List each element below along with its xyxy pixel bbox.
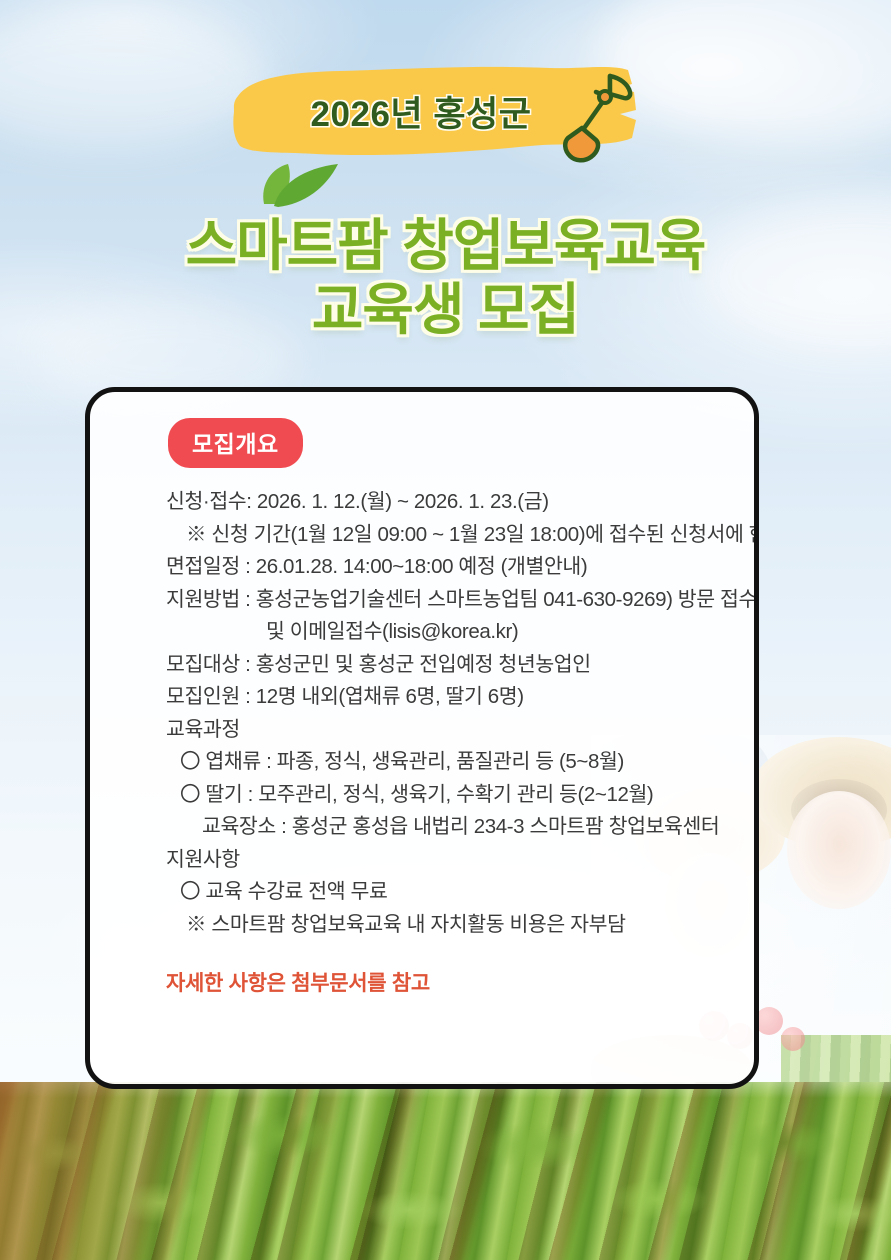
detail-line: 면접일정 : 26.01.28. 14:00~18:00 예정 (개별안내) — [118, 551, 726, 584]
info-card: 모집개요 신청·접수: 2026. 1. 12.(월) ~ 2026. 1. 2… — [85, 387, 759, 1089]
page-title: 스마트팜 창업보육교육 교육생 모집 — [0, 214, 891, 342]
detail-line: 모집대상 : 홍성군민 및 홍성군 전입예정 청년농업인 — [118, 649, 726, 682]
title-line-1: 스마트팜 창업보육교육 — [186, 214, 706, 277]
detail-line: ※ 스마트팜 창업보육교육 내 자치활동 비용은 자부담 — [118, 909, 726, 942]
detail-line: 지원사항 — [118, 844, 726, 877]
detail-line: 〇 교육 수강료 전액 무료 — [118, 876, 726, 909]
detail-line: ※ 신청 기간(1월 12일 09:00 ~ 1월 23일 18:00)에 접수… — [118, 519, 726, 552]
poster-root: 2026년 홍성군 스마트팜 창업보육교육 교육생 모집 모집개요 신청·접수:… — [0, 0, 891, 1260]
detail-line: 및 이메일접수(lisis@korea.kr) — [118, 616, 726, 649]
title-line-2: 교육생 모집 — [0, 278, 891, 342]
header-banner: 2026년 홍성군 — [230, 62, 660, 160]
leaf-icon — [248, 152, 350, 212]
detail-line: 신청·접수: 2026. 1. 12.(월) ~ 2026. 1. 23.(금) — [118, 486, 726, 519]
footer-note: 자세한 사항은 첨부문서를 참고 — [118, 967, 726, 997]
details-list: 신청·접수: 2026. 1. 12.(월) ~ 2026. 1. 23.(금)… — [118, 486, 726, 941]
detail-line: 모집인원 : 12명 내외(엽채류 6명, 딸기 6명) — [118, 681, 726, 714]
detail-line: 교육장소 : 홍성군 홍성읍 내법리 234-3 스마트팜 창업보육센터 — [118, 811, 726, 844]
detail-line: 〇 딸기 : 모주관리, 정식, 생육기, 수확기 관리 등(2~12월) — [118, 779, 726, 812]
shovel-icon — [548, 66, 644, 170]
detail-line: 〇 엽채류 : 파종, 정식, 생육관리, 품질관리 등 (5~8월) — [118, 746, 726, 779]
status-badge: 모집개요 — [168, 418, 303, 468]
soil-row — [0, 1082, 240, 1260]
detail-line: 교육과정 — [118, 714, 726, 747]
detail-line: 지원방법 : 홍성군농업기술센터 스마트농업팀 041-630-9269) 방문… — [118, 584, 726, 617]
